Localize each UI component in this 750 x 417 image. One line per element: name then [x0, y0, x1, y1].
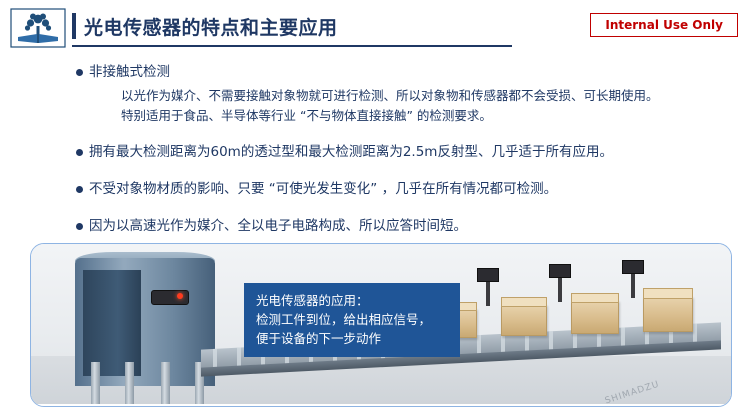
tree-book-logo-icon	[10, 8, 66, 48]
carton-box	[571, 300, 619, 334]
status-badge: Internal Use Only	[590, 13, 738, 37]
callout-line: 检测工件到位，给出相应信号，	[256, 310, 450, 329]
carton-box-top	[643, 288, 693, 299]
photoelectric-sensor	[622, 260, 644, 274]
page-title: 光电传感器的特点和主要应用	[84, 13, 338, 40]
callout-line: 便于设备的下一步动作	[256, 329, 450, 348]
bullet-dot-icon	[76, 69, 83, 76]
sensor-post	[558, 274, 562, 302]
slide-header: 光电传感器的特点和主要应用 Internal Use Only	[0, 0, 750, 54]
list-item: 非接触式检测 以光作为媒介、不需要接触对象物就可进行检测、所以对象物和传感器都不…	[76, 62, 659, 126]
sensor-post	[486, 278, 490, 306]
bullet-dot-icon	[76, 223, 83, 230]
machine-leg	[91, 362, 100, 404]
bullet-subtext: 特别适用于食品、半导体等行业 “不与物体直接接触” 的检测要求。	[121, 106, 659, 126]
machine-legs	[87, 362, 207, 404]
callout-line: 光电传感器的应用：	[256, 291, 450, 310]
carton-box	[501, 304, 547, 336]
bullet-text: 因为以高速光作为媒介、全以电子电路构成、所以应答时间短。	[89, 216, 467, 236]
bullet-text: 非接触式检测	[89, 62, 659, 82]
bullet-subtext-group: 以光作为媒介、不需要接触对象物就可进行检测、所以对象物和传感器都不会受损、可长期…	[121, 86, 659, 126]
carton-box	[643, 296, 693, 332]
photoelectric-sensor	[477, 268, 499, 282]
bullet-text: 不受对象物材质的影响、只要 “可使光发生变化” ，几乎在所有情况都可检测。	[89, 179, 557, 199]
photoelectric-sensor-on-machine	[151, 290, 189, 305]
sensor-post	[631, 270, 635, 298]
carton-box-top	[571, 293, 619, 303]
bullet-subtext: 以光作为媒介、不需要接触对象物就可进行检测、所以对象物和传感器都不会受损、可长期…	[121, 86, 659, 106]
list-item: 因为以高速光作为媒介、全以电子电路构成、所以应答时间短。	[76, 216, 467, 236]
slide: 光电传感器的特点和主要应用 Internal Use Only 非接触式检测 以…	[0, 0, 750, 417]
machine-leg	[161, 362, 170, 404]
carton-box-top	[501, 297, 547, 307]
list-item: 拥有最大检测距离为60m的透过型和最大检测距离为2.5m反射型、几乎适于所有应用…	[76, 142, 613, 162]
title-underline	[72, 45, 512, 47]
list-item: 不受对象物材质的影响、只要 “可使光发生变化” ，几乎在所有情况都可检测。	[76, 179, 557, 199]
callout-box: 光电传感器的应用： 检测工件到位，给出相应信号， 便于设备的下一步动作	[244, 283, 460, 357]
bullet-dot-icon	[76, 149, 83, 156]
machine-leg	[125, 362, 134, 404]
bullet-dot-icon	[76, 186, 83, 193]
photoelectric-sensor	[549, 264, 571, 278]
bullet-text: 拥有最大检测距离为60m的透过型和最大检测距离为2.5m反射型、几乎适于所有应用…	[89, 142, 613, 162]
machine-inner-drum	[83, 270, 141, 376]
sensor-led-indicator	[177, 293, 183, 299]
title-accent-bar	[72, 13, 76, 39]
